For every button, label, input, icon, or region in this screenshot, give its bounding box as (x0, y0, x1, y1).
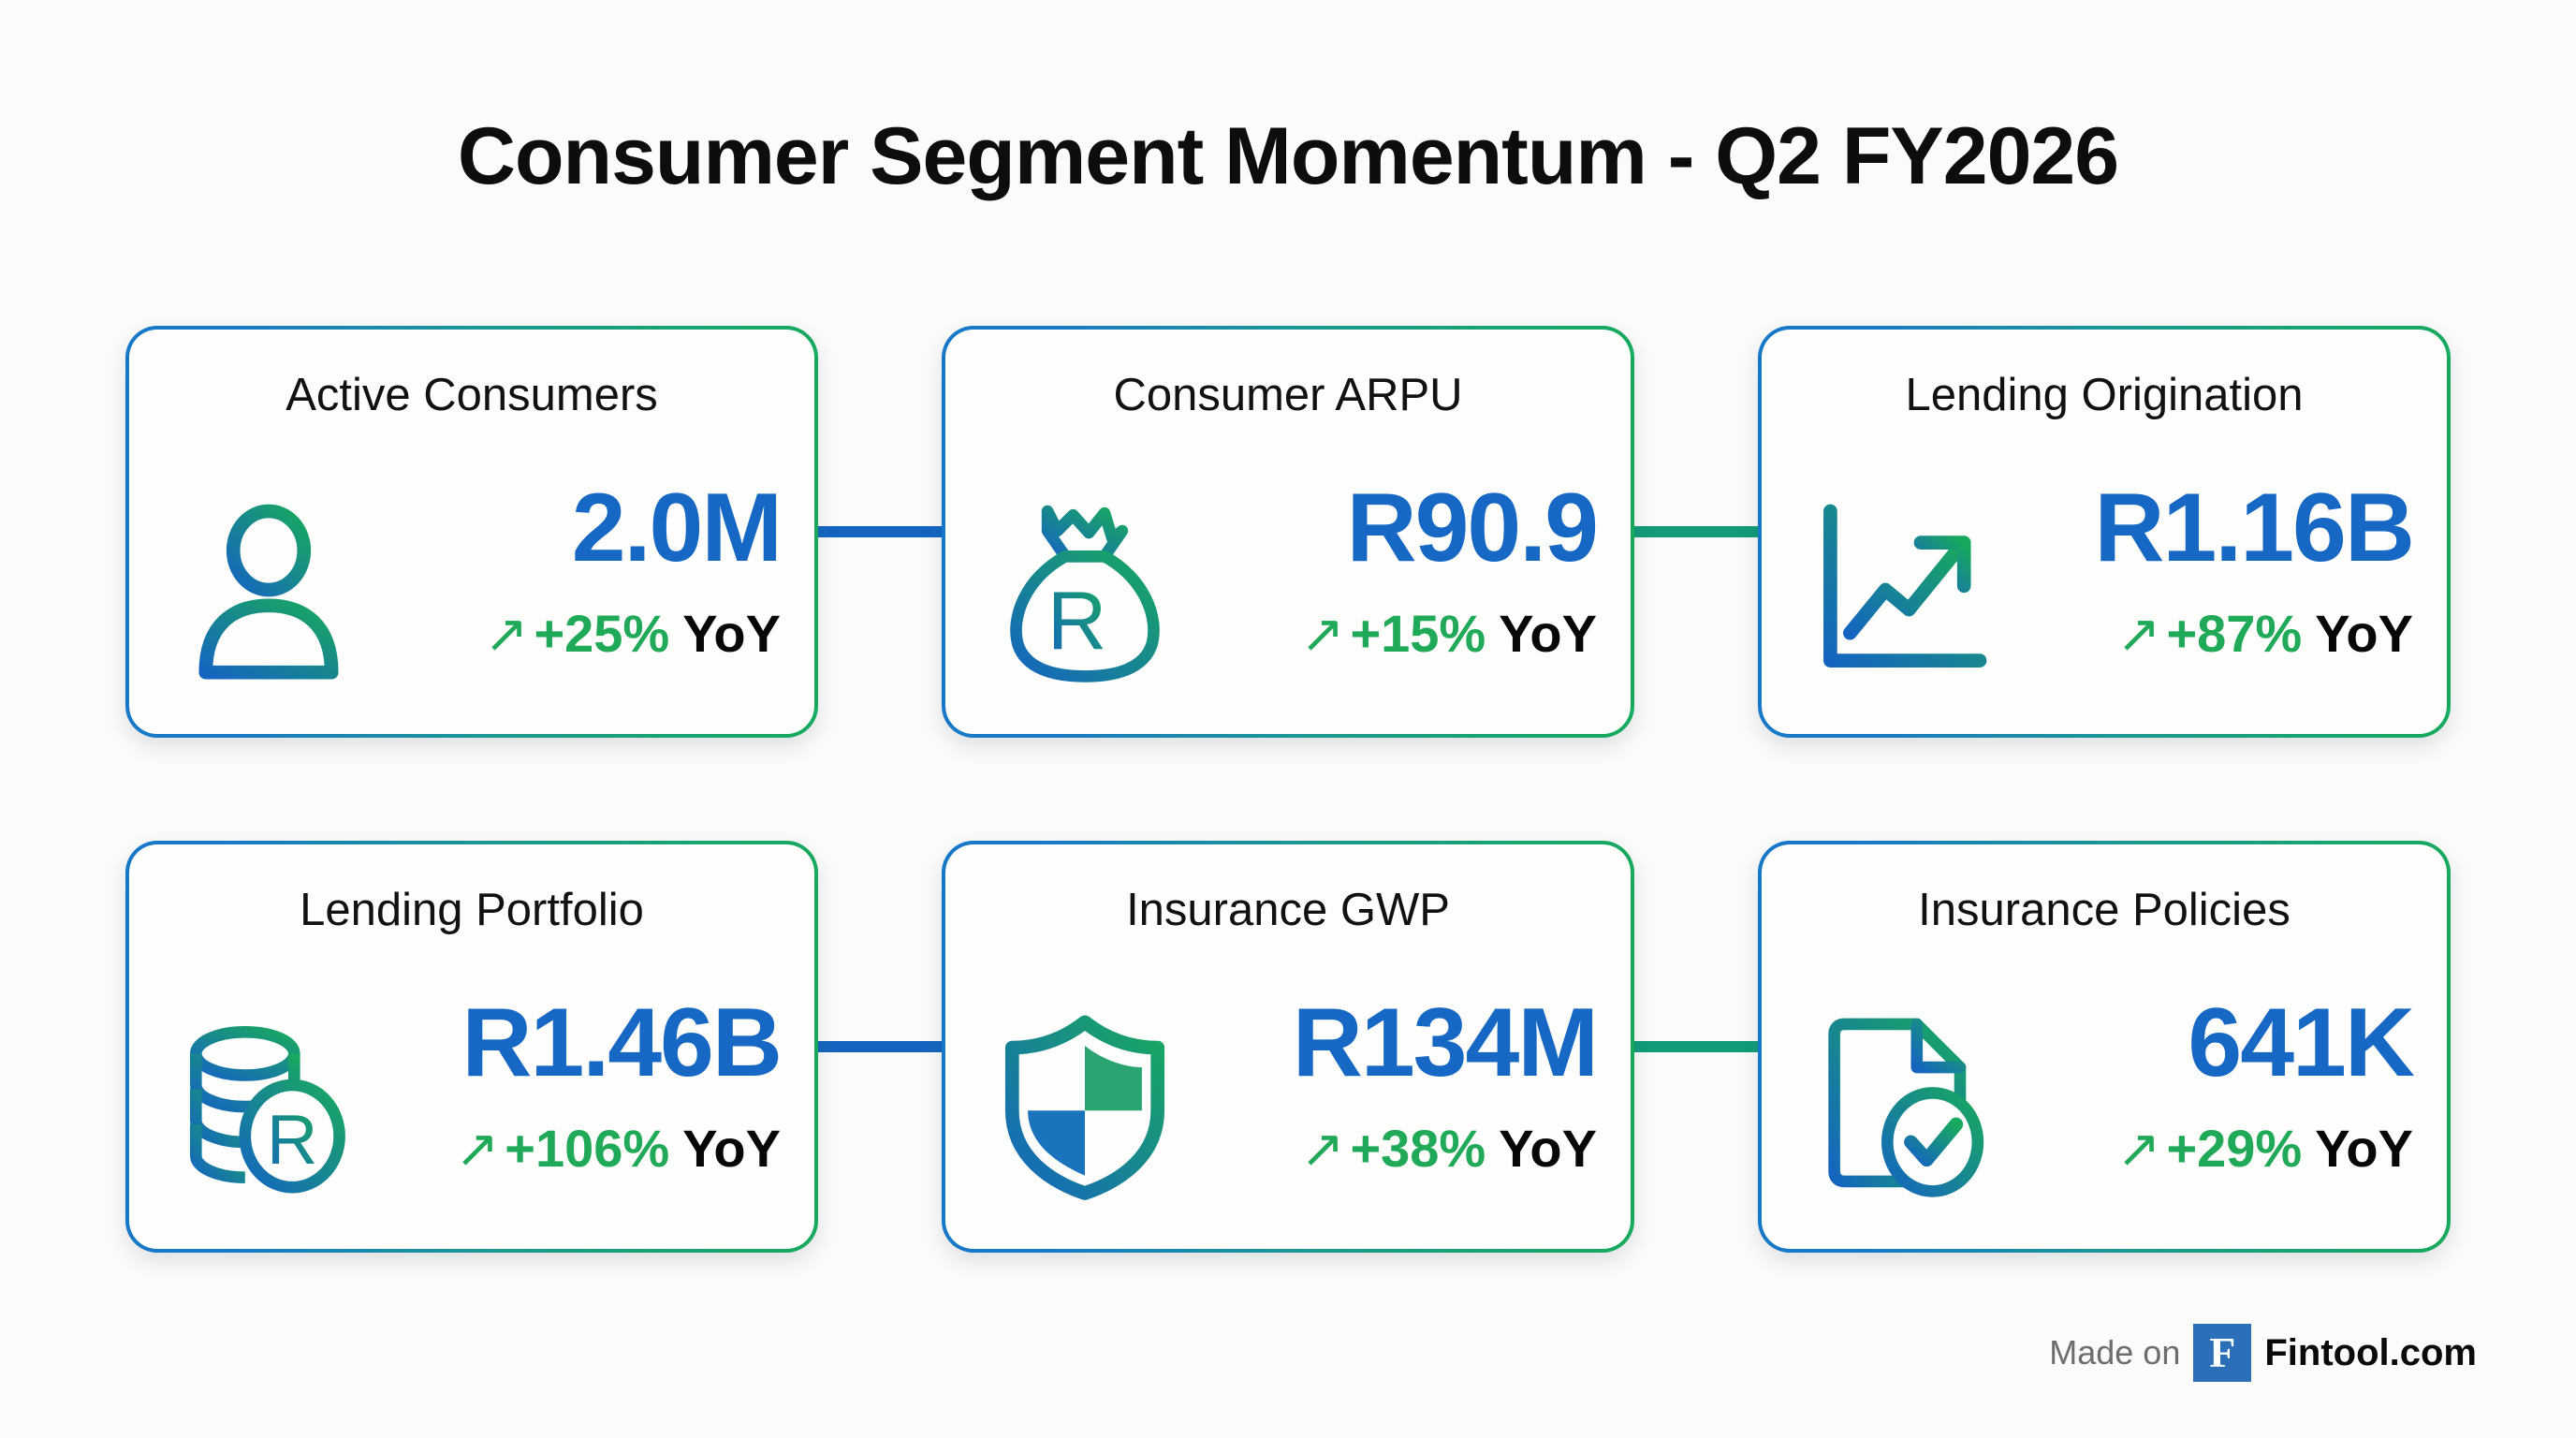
shield-icon (987, 1002, 1183, 1208)
card-delta: ↗+106%YoY (455, 1120, 781, 1178)
delta-percent: +106% (505, 1119, 669, 1178)
card-delta: ↗+15%YoY (1301, 605, 1597, 663)
connector-row2-right (1634, 1041, 1758, 1052)
made-on-label: Made on (2049, 1333, 2180, 1372)
connector-row2-left (818, 1041, 942, 1052)
svg-text:R: R (1047, 574, 1107, 667)
money-bag-rand-icon: R (987, 487, 1183, 693)
card-delta: ↗+38%YoY (1301, 1120, 1597, 1178)
delta-percent: +15% (1350, 604, 1486, 663)
grid-gap (125, 784, 818, 795)
delta-percent: +38% (1350, 1119, 1486, 1178)
grid-gap (1758, 784, 2451, 795)
card-delta: ↗+25%YoY (485, 605, 781, 663)
delta-unit: YoY (1499, 604, 1597, 663)
card-value: R1.16B (2094, 477, 2413, 580)
delta-percent: +29% (2166, 1119, 2302, 1178)
card-label: Lending Origination (1762, 369, 2447, 421)
card-inner: Insurance GWP R134M ↗ (945, 844, 1631, 1249)
footer-credit: Made on F Fintool.com (2049, 1324, 2477, 1382)
kpi-card-insurance-policies[interactable]: Insurance Policies (1758, 841, 2451, 1253)
card-inner: Consumer ARPU R R90.9 (945, 330, 1631, 734)
kpi-card-insurance-gwp[interactable]: Insurance GWP R134M ↗ (942, 841, 1634, 1253)
grid-gap (1634, 784, 1758, 795)
svg-text:R: R (267, 1101, 318, 1180)
card-value: R1.46B (461, 992, 781, 1094)
card-value: 641K (2188, 992, 2413, 1094)
card-inner: Lending Portfolio R (129, 844, 814, 1249)
card-value: R134M (1293, 992, 1597, 1094)
grid-gap (818, 784, 942, 795)
card-inner: Insurance Policies (1762, 844, 2447, 1249)
trend-up-arrow-icon: ↗ (455, 1119, 499, 1178)
trend-up-arrow-icon: ↗ (2117, 604, 2161, 663)
fintool-site-label: Fintool.com (2264, 1332, 2477, 1374)
kpi-card-consumer-arpu[interactable]: Consumer ARPU R R90.9 (942, 326, 1634, 738)
card-delta: ↗+87%YoY (2117, 605, 2413, 663)
card-label: Insurance GWP (945, 884, 1631, 936)
growth-chart-icon (1803, 487, 1999, 693)
delta-unit: YoY (1499, 1119, 1597, 1178)
delta-unit: YoY (682, 1119, 781, 1178)
fintool-logo-icon: F (2193, 1324, 2251, 1382)
kpi-card-active-consumers[interactable]: Active Consumers 2.0M ↗+25%YoY (125, 326, 818, 738)
delta-unit: YoY (682, 604, 781, 663)
card-label: Lending Portfolio (129, 884, 814, 936)
document-check-icon (1803, 1002, 1999, 1208)
card-inner: Lending Origination R1.16B (1762, 330, 2447, 734)
card-delta: ↗+29%YoY (2117, 1120, 2413, 1178)
trend-up-arrow-icon: ↗ (485, 604, 529, 663)
card-inner: Active Consumers 2.0M ↗+25%YoY (129, 330, 814, 734)
kpi-cards-grid: Active Consumers 2.0M ↗+25%YoY (125, 326, 2451, 1253)
delta-percent: +25% (534, 604, 669, 663)
grid-gap (942, 784, 1634, 795)
connector-row1-left (818, 526, 942, 537)
user-icon (170, 487, 367, 693)
delta-unit: YoY (2315, 604, 2413, 663)
card-label: Insurance Policies (1762, 884, 2447, 936)
card-label: Active Consumers (129, 369, 814, 421)
trend-up-arrow-icon: ↗ (1301, 1119, 1345, 1178)
trend-up-arrow-icon: ↗ (2117, 1119, 2161, 1178)
card-label: Consumer ARPU (945, 369, 1631, 421)
connector-row1-right (1634, 526, 1758, 537)
card-value: 2.0M (572, 477, 781, 580)
infographic-root: Consumer Segment Momentum - Q2 FY2026 Ac… (0, 0, 2576, 1438)
kpi-card-lending-origination[interactable]: Lending Origination R1.16B (1758, 326, 2451, 738)
kpi-card-lending-portfolio[interactable]: Lending Portfolio R (125, 841, 818, 1253)
delta-unit: YoY (2315, 1119, 2413, 1178)
card-value: R90.9 (1346, 477, 1597, 580)
coin-stack-rand-icon: R (170, 1002, 367, 1208)
page-title: Consumer Segment Momentum - Q2 FY2026 (0, 110, 2576, 203)
delta-percent: +87% (2166, 604, 2302, 663)
trend-up-arrow-icon: ↗ (1301, 604, 1345, 663)
